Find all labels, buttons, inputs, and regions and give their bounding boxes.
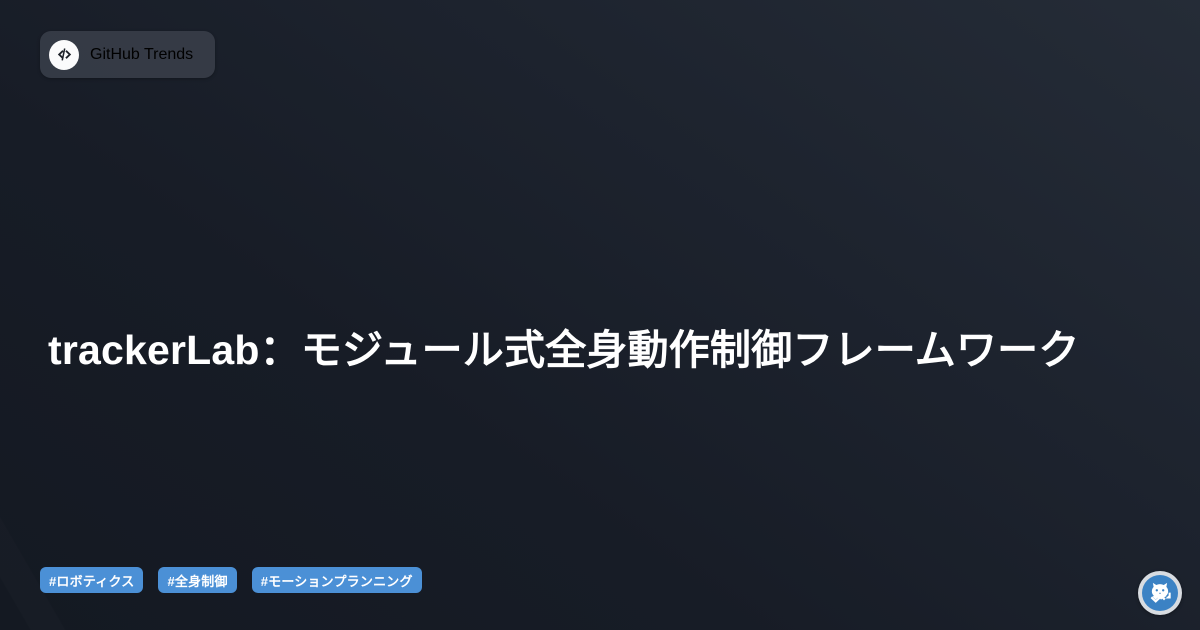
tag-item[interactable]: #モーションプランニング (252, 567, 422, 593)
tag-list: #ロボティクス #全身制御 #モーションプランニング (40, 567, 422, 593)
tag-item[interactable]: #全身制御 (158, 567, 236, 593)
code-brackets-icon (49, 40, 79, 70)
social-share-card: GitHub Trends trackerLab：モジュール式全身動作制御フレー… (0, 0, 1200, 630)
site-logo[interactable] (1138, 571, 1182, 615)
tag-item[interactable]: #ロボティクス (40, 567, 143, 593)
brand-label: GitHub Trends (90, 46, 193, 64)
page-title: trackerLab：モジュール式全身動作制御フレームワーク (48, 323, 1130, 377)
cat-trend-logo-icon (1142, 575, 1178, 611)
brand-badge[interactable]: GitHub Trends (40, 31, 215, 78)
